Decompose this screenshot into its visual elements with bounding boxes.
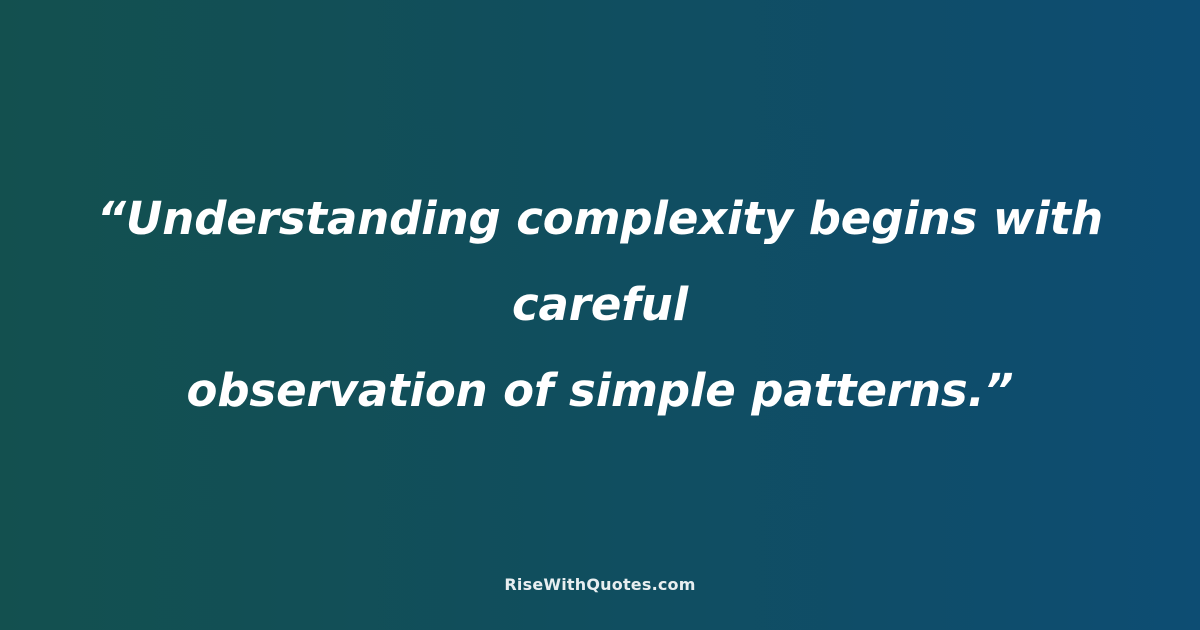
quote-card: “Understanding complexity begins with ca… [0,0,1200,630]
attribution-label: RiseWithQuotes.com [504,575,695,594]
quote-text: “Understanding complexity begins with ca… [90,176,1110,434]
quote-block: “Understanding complexity begins with ca… [0,176,1200,434]
attribution-wrap: RiseWithQuotes.com [0,575,1200,594]
